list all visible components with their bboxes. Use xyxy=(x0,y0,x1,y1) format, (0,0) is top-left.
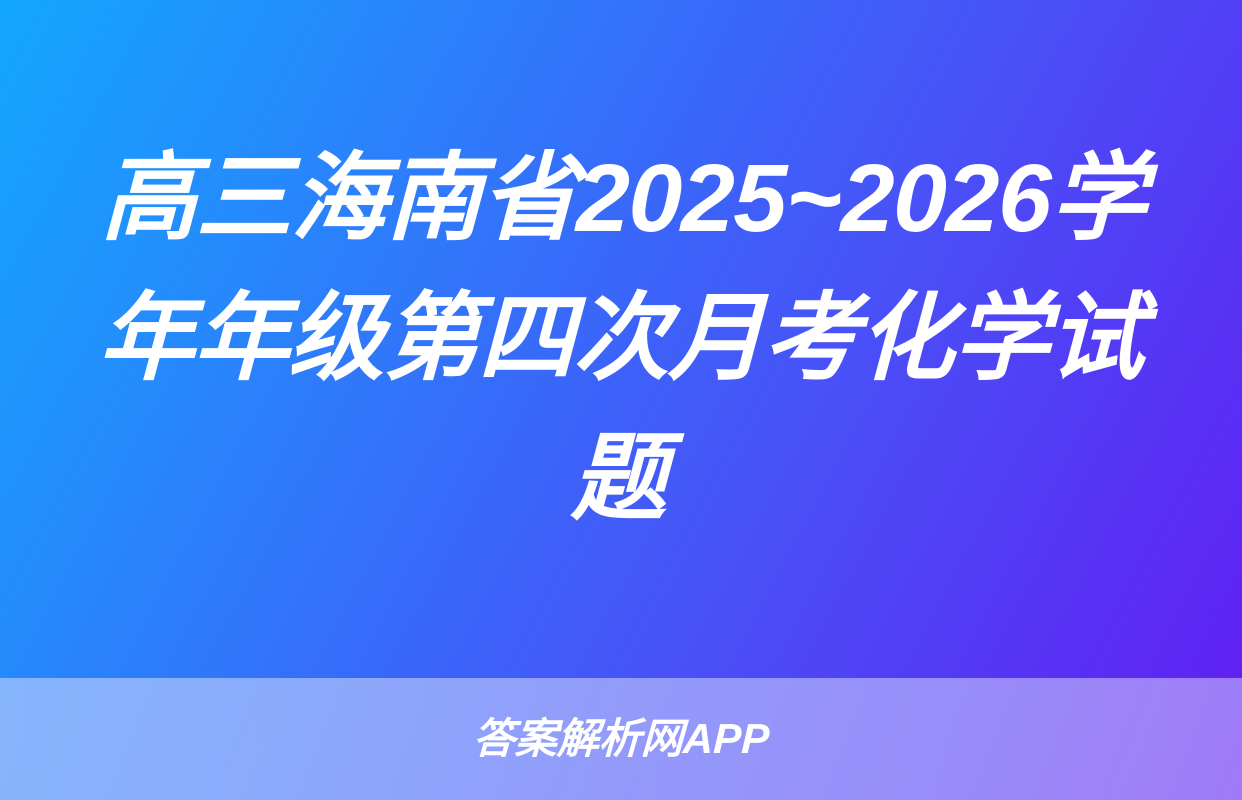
hero-gradient-background: 高三海南省2025~2026学年年级第四次月考化学试题 xyxy=(0,0,1242,678)
brand-label: 答案解析网APP xyxy=(472,715,770,763)
page-title: 高三海南省2025~2026学年年级第四次月考化学试题 xyxy=(87,129,1154,549)
hero-content: 高三海南省2025~2026学年年级第四次月考化学试题 xyxy=(0,0,1242,678)
footer-brand-bar: 答案解析网APP xyxy=(0,678,1242,800)
banner-page: 高三海南省2025~2026学年年级第四次月考化学试题 答案解析网APP xyxy=(0,0,1242,800)
